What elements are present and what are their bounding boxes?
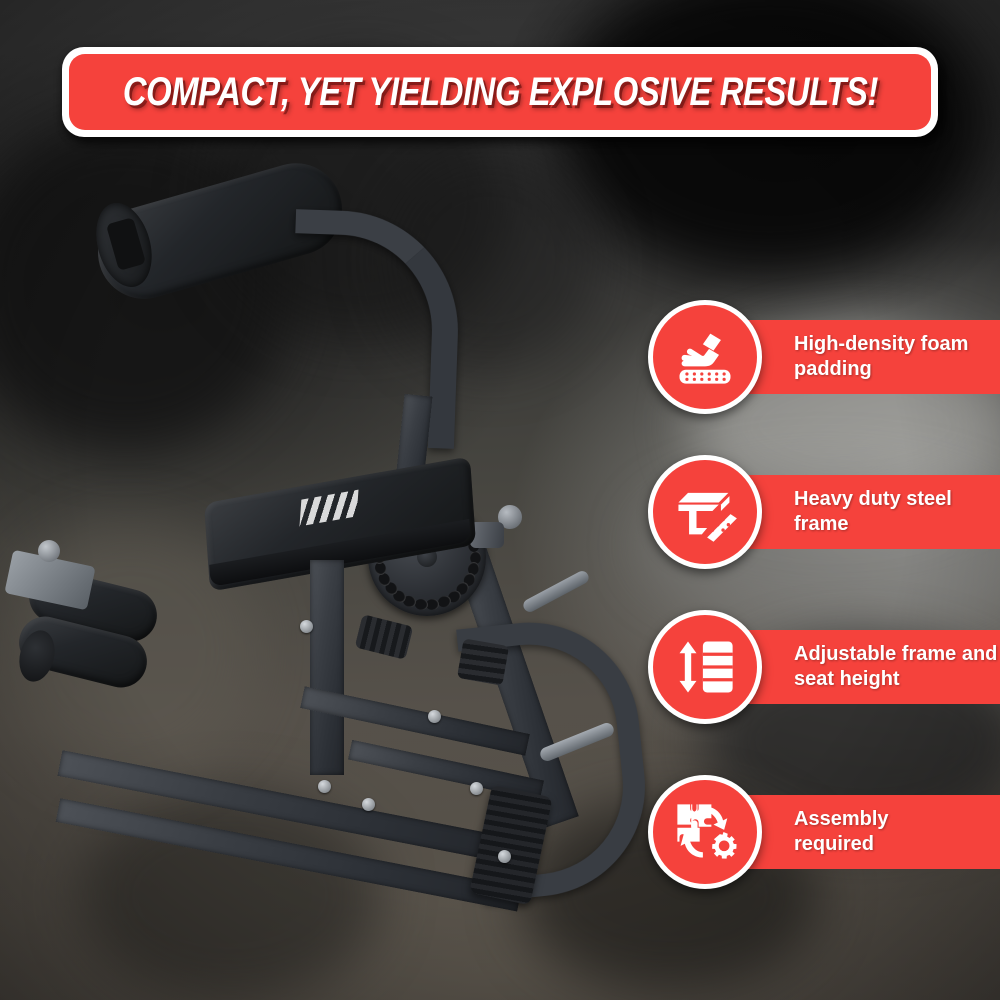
feature-label-line2: frame [794, 512, 952, 537]
feature-item-assembly-required: Assembly required [648, 775, 1000, 889]
banner-border: COMPACT, YET YIELDING EXPLOSIVE RESULTS! [62, 47, 938, 137]
feature-label-line1: Adjustable frame and [794, 642, 997, 667]
height-adjust-arrows-icon [648, 610, 762, 724]
banner-fill: COMPACT, YET YIELDING EXPLOSIVE RESULTS! [69, 54, 931, 130]
dial-hole [414, 598, 428, 610]
frame-bolt [498, 850, 511, 863]
hand-foam-padding-icon [648, 300, 762, 414]
feature-label-line1: Assembly [794, 807, 889, 832]
feature-label-line2: required [794, 832, 889, 857]
product-image [0, 150, 660, 950]
feature-label-line2: seat height [794, 667, 997, 692]
foot-roller-knob [38, 540, 60, 562]
feature-label-line2: padding [794, 357, 968, 382]
product-marketing-image: COMPACT, YET YIELDING EXPLOSIVE RESULTS!… [0, 0, 1000, 1000]
seat-post [310, 560, 344, 775]
frame-bolt [362, 798, 375, 811]
feature-banner: Adjustable frame and seat height [744, 630, 1000, 704]
headline-banner: COMPACT, YET YIELDING EXPLOSIVE RESULTS! [62, 47, 938, 137]
feature-banner: Assembly required [744, 795, 1000, 869]
frame-bolt [470, 782, 483, 795]
feature-banner: High-density foam padding [744, 320, 1000, 394]
feature-label-line1: Heavy duty steel [794, 487, 952, 512]
adjustment-handle [521, 569, 591, 614]
feature-label: Adjustable frame and seat height [744, 642, 997, 692]
frame-bolt [318, 780, 331, 793]
feature-item-foam-padding: High-density foam padding [648, 300, 1000, 414]
feature-banner: Heavy duty steel frame [744, 475, 1000, 549]
feature-label: Heavy duty steel frame [744, 487, 952, 537]
frame-bolt [428, 710, 441, 723]
puzzle-gear-assembly-icon [648, 775, 762, 889]
feature-item-adjustable-height: Adjustable frame and seat height [648, 610, 1000, 724]
curved-support-arm [288, 209, 462, 449]
frame-bolt [300, 620, 313, 633]
feature-item-steel-frame: Heavy duty steel frame [648, 455, 1000, 569]
feature-label: Assembly required [744, 807, 889, 857]
feature-label-line1: High-density foam [794, 332, 968, 357]
rubber-foot [457, 638, 509, 685]
feature-label: High-density foam padding [744, 332, 968, 382]
headline-text: COMPACT, YET YIELDING EXPLOSIVE RESULTS! [122, 70, 877, 115]
steel-i-beam-icon [648, 455, 762, 569]
rubber-foot [355, 614, 414, 660]
